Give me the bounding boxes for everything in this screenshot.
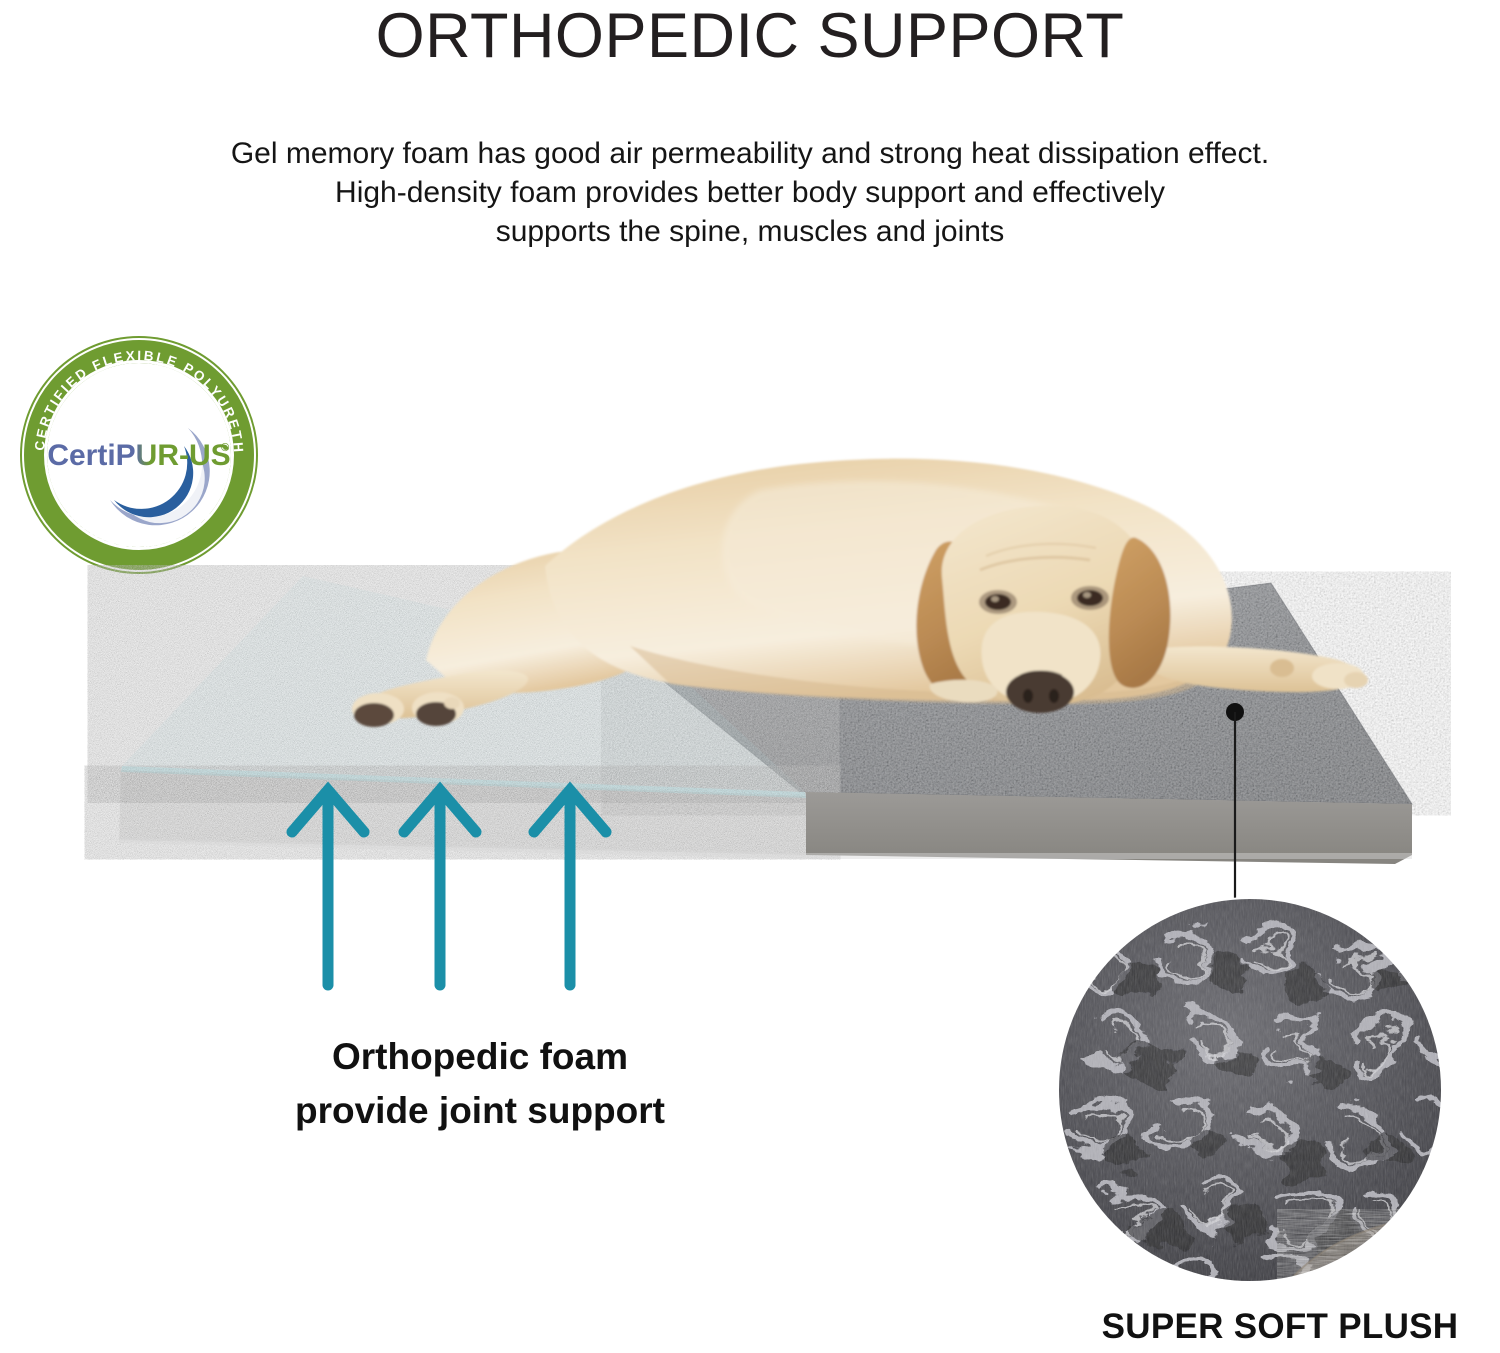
- foam-caption-line-1: Orthopedic foam: [180, 1030, 780, 1084]
- subtitle-block: Gel memory foam has good air permeabilit…: [150, 134, 1350, 251]
- plush-caption: SUPER SOFT PLUSH: [1060, 1305, 1500, 1349]
- arrow-up-3: [534, 790, 606, 985]
- arrow-up-1: [292, 790, 364, 985]
- subtitle-line-2: High-density foam provides better body s…: [150, 173, 1350, 212]
- dog-nose: [1006, 671, 1074, 713]
- orthopedic-foam-arrows: [280, 770, 620, 1000]
- plush-fabric-closeup: [1040, 895, 1460, 1285]
- page-title: ORTHOPEDIC SUPPORT: [0, 2, 1500, 70]
- orthopedic-foam-caption: Orthopedic foam provide joint support: [180, 1030, 780, 1138]
- foam-caption-line-2: provide joint support: [180, 1084, 780, 1138]
- subtitle-line-1: Gel memory foam has good air permeabilit…: [150, 134, 1350, 173]
- product-infographic: ORTHOPEDIC SUPPORT Gel memory foam has g…: [0, 0, 1500, 1353]
- subtitle-line-3: supports the spine, muscles and joints: [150, 212, 1350, 251]
- arrow-up-2: [404, 790, 476, 985]
